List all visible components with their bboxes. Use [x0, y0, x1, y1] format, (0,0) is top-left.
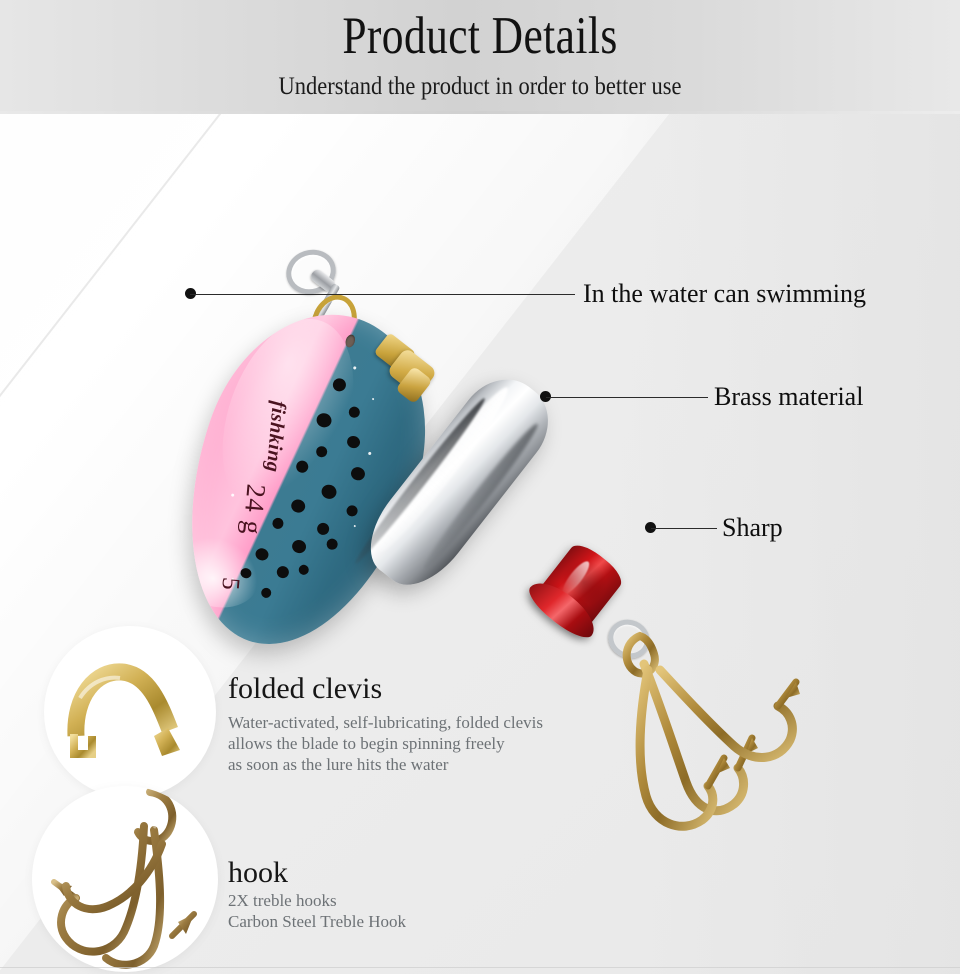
folded-clevis-thumbnail	[44, 626, 216, 798]
page-header: Product Details Understand the product i…	[0, 0, 960, 114]
feature-desc-line: as soon as the lure hits the water	[228, 754, 543, 775]
blade-spot	[271, 516, 285, 530]
folded-clevis-art	[44, 626, 216, 798]
blade-spot	[315, 521, 330, 536]
blade-sparkle	[353, 366, 357, 370]
blade-size-text: 5	[215, 576, 244, 591]
feature-desc-line: allows the blade to begin spinning freel…	[228, 733, 543, 754]
page-subtitle: Understand the product in order to bette…	[48, 72, 912, 102]
treble-hook-art	[32, 786, 218, 972]
product-stage: fishking 24 g 5	[0, 114, 960, 974]
blade-spot	[290, 538, 307, 555]
product-detail-page: Product Details Understand the product i…	[0, 0, 960, 974]
blade-weight-text: 24 g	[236, 483, 271, 537]
feature-desc-line: Water-activated, self-lubricating, folde…	[228, 712, 543, 733]
callout-leader-line	[651, 528, 717, 529]
page-title: Product Details	[86, 6, 873, 66]
blade-sparkle	[354, 525, 357, 528]
footer-divider	[0, 967, 960, 968]
blade-spot	[345, 504, 359, 518]
feature-description: 2X treble hooks Carbon Steel Treble Hook	[228, 890, 406, 932]
feature-desc-line: Carbon Steel Treble Hook	[228, 911, 406, 932]
callout-label: Sharp	[722, 513, 783, 543]
feature-title: hook	[228, 856, 288, 890]
blade-spot	[260, 586, 273, 599]
treble-hook-icon	[600, 620, 850, 850]
blade-spot	[297, 563, 310, 576]
blade-spot	[254, 547, 270, 563]
blade-spot	[320, 483, 339, 501]
callout-label: Brass material	[714, 382, 863, 412]
blade-spot	[325, 537, 339, 551]
blade-sparkle	[368, 452, 372, 456]
blade-spot	[345, 434, 361, 450]
blade-spot	[275, 565, 290, 580]
feature-desc-line: 2X treble hooks	[228, 890, 406, 911]
blade-spot	[349, 465, 366, 482]
callout-leader-line	[190, 294, 575, 295]
callout-label: In the water can swimming	[583, 279, 866, 309]
hook-thumbnail	[32, 786, 218, 972]
blade-highlight-lower	[161, 525, 269, 619]
feature-description: Water-activated, self-lubricating, folde…	[228, 712, 543, 775]
feature-title: folded clevis	[228, 672, 382, 706]
callout-leader-line	[546, 397, 708, 398]
blade-sparkle	[372, 398, 375, 401]
